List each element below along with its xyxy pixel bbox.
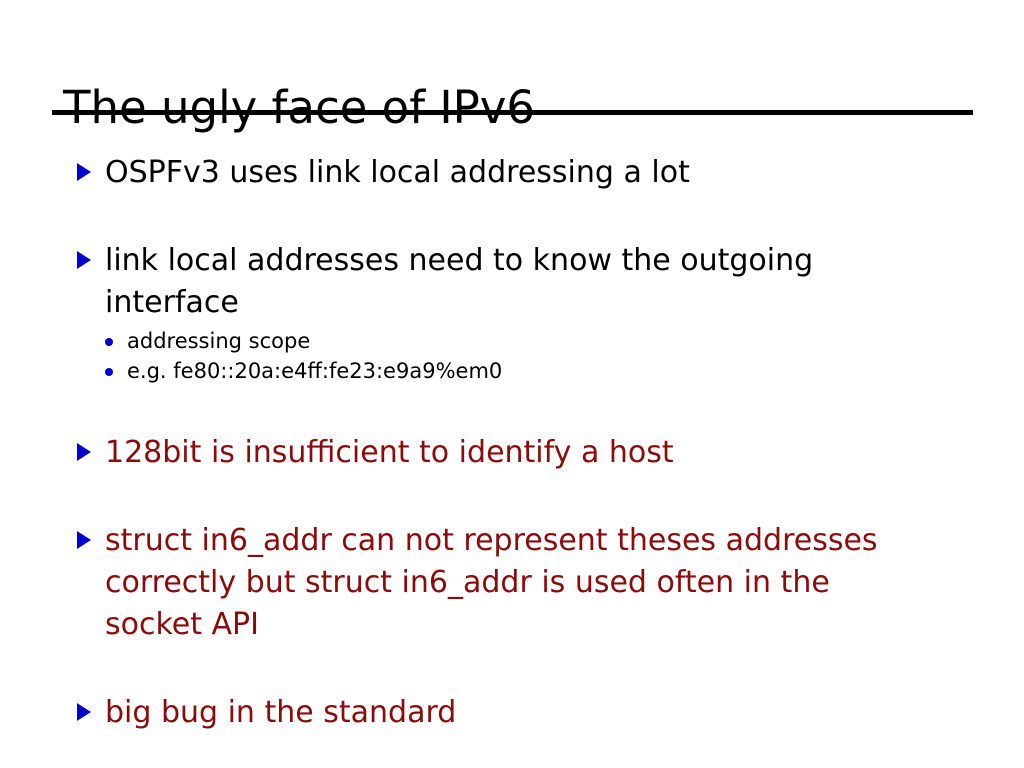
bullet-item: struct in6_addr can not represent theses… bbox=[0, 520, 1024, 646]
triangle-right-marker-icon bbox=[77, 531, 91, 549]
sub-bullet-item: e.g. fe80::20a:e4ff:fe23:e9a9%em0 bbox=[105, 356, 1024, 386]
bullet-text: OSPFv3 uses link local addressing a lot bbox=[105, 152, 895, 194]
bullet-item: 128bit is insufficient to identify a hos… bbox=[0, 432, 1024, 474]
triangle-right-marker-icon bbox=[77, 163, 91, 181]
bullet-text: 128bit is insufficient to identify a hos… bbox=[105, 432, 895, 474]
sub-bullet-item: addressing scope bbox=[105, 326, 1024, 356]
bullet-item: big bug in the standard bbox=[0, 692, 1024, 734]
bullet-item: link local addresses need to know the ou… bbox=[0, 240, 1024, 386]
presentation-slide: The ugly face of IPv6 OSPFv3 uses link l… bbox=[0, 0, 1024, 768]
triangle-right-marker-icon bbox=[77, 251, 91, 269]
bullet-item: OSPFv3 uses link local addressing a lot bbox=[0, 152, 1024, 194]
dot-marker-icon bbox=[105, 338, 113, 346]
page-title: The ugly face of IPv6 bbox=[63, 82, 535, 134]
sub-bullet-list: addressing scope e.g. fe80::20a:e4ff:fe2… bbox=[105, 326, 1024, 386]
dot-marker-icon bbox=[105, 368, 113, 376]
bullet-text: struct in6_addr can not represent theses… bbox=[105, 520, 895, 646]
title-underline-rule bbox=[52, 110, 973, 115]
triangle-right-marker-icon bbox=[77, 443, 91, 461]
triangle-right-marker-icon bbox=[77, 703, 91, 721]
sub-bullet-text: addressing scope bbox=[127, 326, 1024, 356]
bullet-text: big bug in the standard bbox=[105, 692, 895, 734]
sub-bullet-text: e.g. fe80::20a:e4ff:fe23:e9a9%em0 bbox=[127, 356, 1024, 386]
bullet-text: link local addresses need to know the ou… bbox=[105, 240, 895, 324]
slide-body: OSPFv3 uses link local addressing a lot … bbox=[0, 152, 1024, 734]
